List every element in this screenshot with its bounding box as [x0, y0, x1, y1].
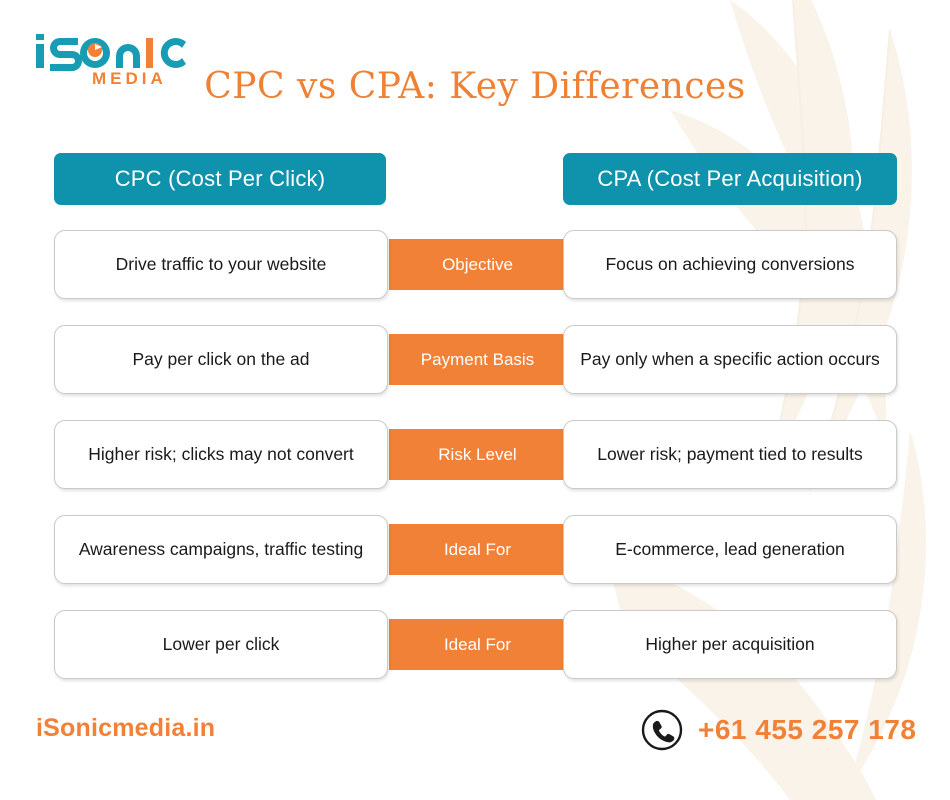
cell-cpc: Drive traffic to your website — [54, 230, 388, 299]
infographic-canvas: MEDIA CPC vs CPA: Key Differences CPC (C… — [0, 0, 950, 800]
cell-cpc: Awareness campaigns, traffic testing — [54, 515, 388, 584]
row-label-badge: Ideal For — [389, 524, 566, 575]
cell-cpc: Lower per click — [54, 610, 388, 679]
comparison-row: Ideal For Lower per click Higher per acq… — [0, 610, 950, 679]
comparison-row: Payment Basis Pay per click on the ad Pa… — [0, 325, 950, 394]
comparison-row: Risk Level Higher risk; clicks may not c… — [0, 420, 950, 489]
comparison-row: Ideal For Awareness campaigns, traffic t… — [0, 515, 950, 584]
cell-cpc: Pay per click on the ad — [54, 325, 388, 394]
cell-cpa: Pay only when a specific action occurs — [563, 325, 897, 394]
cell-cpa: Higher per acquisition — [563, 610, 897, 679]
footer-website[interactable]: iSonicmedia.in — [36, 714, 215, 743]
cell-cpa: Focus on achieving conversions — [563, 230, 897, 299]
row-label-badge: Payment Basis — [389, 334, 566, 385]
page-title: CPC vs CPA: Key Differences — [0, 66, 950, 107]
phone-icon — [640, 708, 684, 752]
cell-cpa: Lower risk; payment tied to results — [563, 420, 897, 489]
cell-cpa: E-commerce, lead generation — [563, 515, 897, 584]
row-label-badge: Objective — [389, 239, 566, 290]
footer-contact: +61 455 257 178 — [640, 708, 916, 752]
comparison-row: Objective Drive traffic to your website … — [0, 230, 950, 299]
phone-number[interactable]: +61 455 257 178 — [698, 714, 916, 746]
row-label-badge: Ideal For — [389, 619, 566, 670]
column-header-cpa: CPA (Cost Per Acquisition) — [563, 153, 897, 205]
cell-cpc: Higher risk; clicks may not convert — [54, 420, 388, 489]
column-header-cpc: CPC (Cost Per Click) — [54, 153, 386, 205]
row-label-badge: Risk Level — [389, 429, 566, 480]
